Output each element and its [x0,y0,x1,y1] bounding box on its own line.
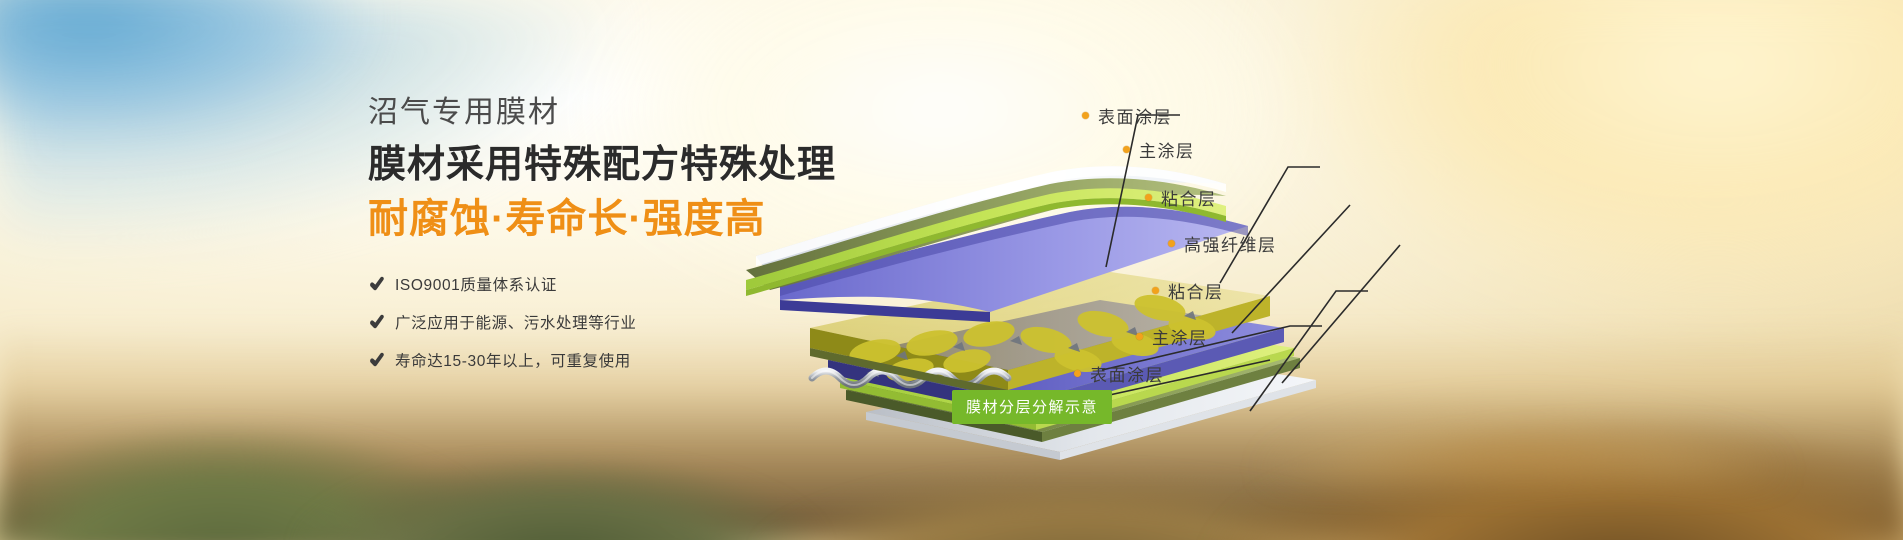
list-item-label: ISO9001质量体系认证 [395,273,557,295]
callout-main-coat-top: 主涂层 [1123,137,1195,162]
bullet-dot-icon [1152,287,1159,294]
hero-banner: 沼气专用膜材 膜材采用特殊配方特殊处理 耐腐蚀·寿命长·强度高 ISO9001质… [0,0,1903,540]
diagram-caption-label: 膜材分层分解示意 [966,399,1098,416]
callout-label: 主涂层 [1139,137,1195,162]
list-item-label: 寿命达15-30年以上，可重复使用 [395,349,631,371]
callout-label: 表面涂层 [1090,361,1164,386]
callout-label: 表面涂层 [1098,103,1172,128]
bullet-dot-icon [1136,333,1143,340]
callout-label: 粘合层 [1161,185,1217,210]
callout-surface-coat-top: 表面涂层 [1082,103,1172,128]
bullet-dot-icon [1123,146,1130,153]
callout-main-coat-bottom: 主涂层 [1136,324,1208,349]
background-sky-core [0,0,390,120]
check-badge-icon [368,351,386,369]
callout-adhesive-top: 粘合层 [1145,185,1217,210]
list-item-label: 广泛应用于能源、污水处理等行业 [395,311,637,333]
check-badge-icon [368,313,386,331]
callout-label: 主涂层 [1152,324,1208,349]
callout-label: 高强纤维层 [1184,231,1277,256]
bullet-dot-icon [1145,194,1152,201]
callout-label: 粘合层 [1168,278,1224,303]
callout-adhesive-bottom: 粘合层 [1152,278,1224,303]
check-badge-icon [368,275,386,293]
bullet-dot-icon [1082,112,1089,119]
callout-surface-coat-bottom: 表面涂层 [1074,361,1164,386]
diagram-caption-badge: 膜材分层分解示意 [952,390,1112,424]
bullet-dot-icon [1168,240,1175,247]
callout-fibre-core: 高强纤维层 [1168,231,1277,256]
bullet-dot-icon [1074,370,1081,377]
